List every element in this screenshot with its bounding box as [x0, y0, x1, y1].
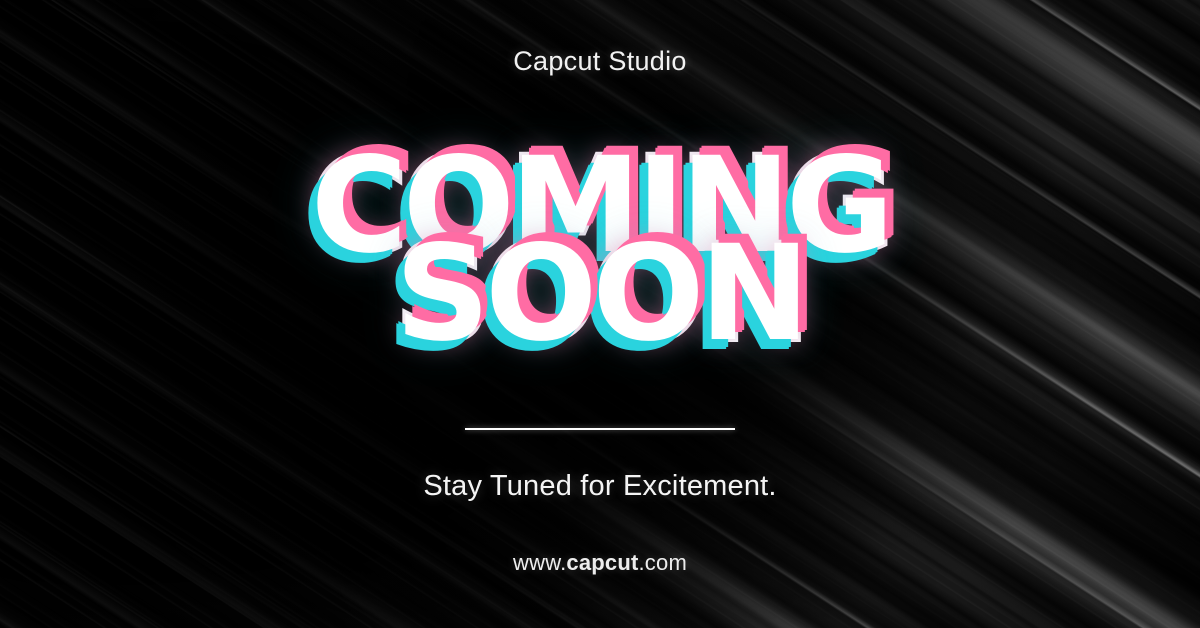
website-url[interactable]: www.capcut.com: [0, 550, 1200, 576]
headline-line-soon: SOON: [0, 238, 1200, 352]
website-suffix: .com: [639, 550, 687, 575]
website-prefix: www.: [513, 550, 566, 575]
poster-content: Capcut Studio COMING SOON Stay Tuned for…: [0, 0, 1200, 628]
divider-rule: [465, 428, 735, 430]
tagline-text: Stay Tuned for Excitement.: [0, 470, 1200, 503]
website-name: capcut: [566, 550, 638, 575]
brand-title: Capcut Studio: [0, 46, 1200, 77]
headline-block: COMING SOON: [0, 150, 1200, 351]
coming-soon-poster: Capcut Studio COMING SOON Stay Tuned for…: [0, 0, 1200, 628]
